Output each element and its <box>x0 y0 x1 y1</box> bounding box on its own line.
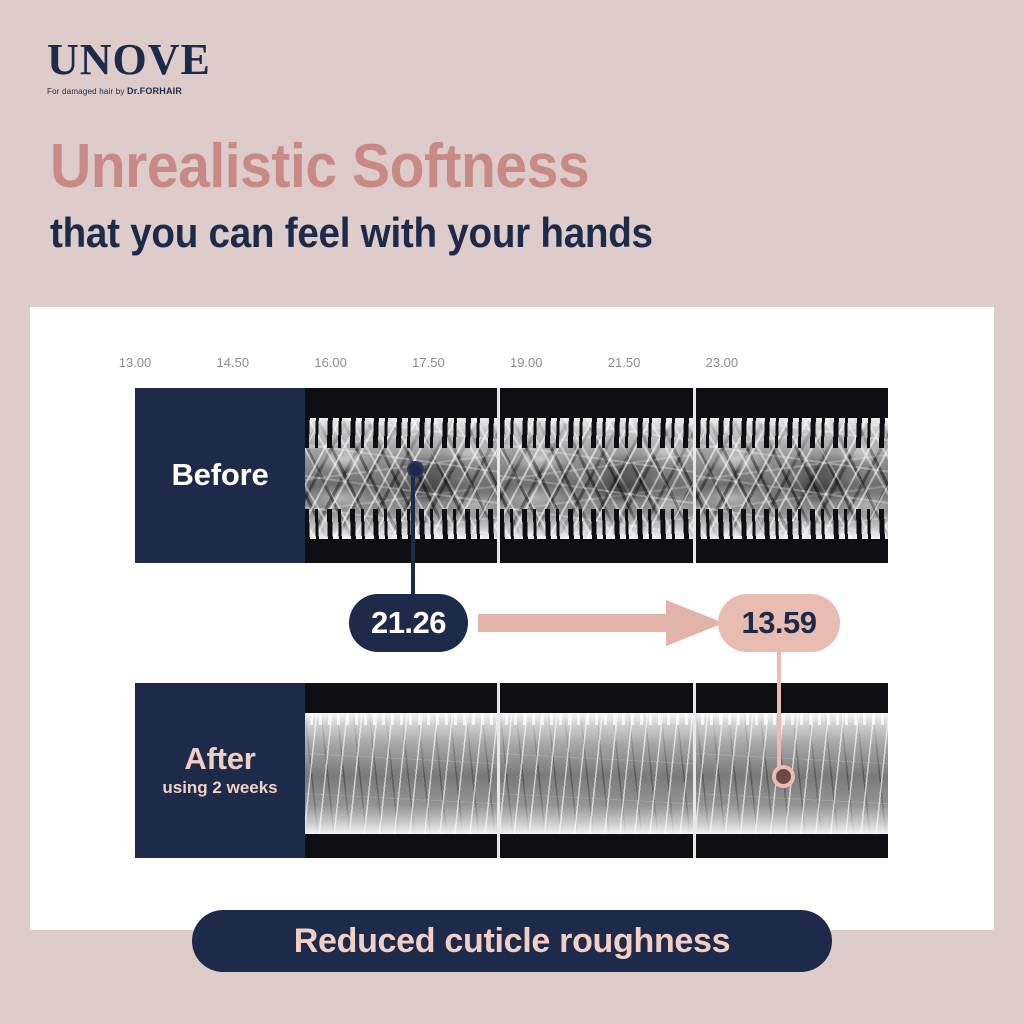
measurement-marker-before <box>407 461 424 478</box>
sem-panel-before-2 <box>497 388 692 563</box>
fibre-edge-bottom <box>305 509 497 544</box>
axis-tick-3: 17.50 <box>412 355 445 370</box>
sem-panel-after-2 <box>497 683 692 858</box>
hair-fibre-smooth <box>497 713 692 834</box>
brand-wordmark: UNOVE <box>47 38 347 82</box>
axis-tick-5: 21.50 <box>608 355 641 370</box>
fibre-edge-top <box>305 413 497 448</box>
brand-tagline-partner: Dr.FORHAIR <box>127 86 182 96</box>
row-label-after-subtitle: using 2 weeks <box>162 778 277 798</box>
sem-strip-after <box>305 683 888 858</box>
conclusion-banner: Reduced cuticle roughness <box>192 910 832 972</box>
sem-panel-before-3 <box>693 388 888 563</box>
row-label-before-title: Before <box>172 459 269 492</box>
hair-fibre-smooth <box>305 713 497 834</box>
axis-tick-4: 19.00 <box>510 355 543 370</box>
headline-secondary: that you can feel with your hands <box>50 212 896 254</box>
comparison-row-before: Before <box>135 388 888 563</box>
brand-tagline: For damaged hair by Dr.FORHAIR <box>47 86 347 96</box>
fibre-edge-top <box>500 413 692 448</box>
headline-block: Unrealistic Softness that you can feel w… <box>50 136 970 254</box>
value-badge-before: 21.26 <box>349 594 468 652</box>
row-label-after: After using 2 weeks <box>135 683 305 858</box>
connector-line-after <box>777 648 781 770</box>
row-label-after-title: After <box>184 743 255 776</box>
value-badge-after: 13.59 <box>718 594 840 652</box>
axis-tick-0: 13.00 <box>119 355 152 370</box>
axis-tick-labels: 13.00 14.50 16.00 17.50 19.00 21.50 23.0… <box>135 355 993 379</box>
brand-logo: UNOVE For damaged hair by Dr.FORHAIR <box>47 38 347 96</box>
row-label-before: Before <box>135 388 305 563</box>
fibre-edge-bottom <box>696 509 888 544</box>
brand-tagline-prefix: For damaged hair by <box>47 87 127 96</box>
axis-tick-6: 23.00 <box>706 355 739 370</box>
measurement-marker-after <box>772 765 795 788</box>
improvement-arrow-icon <box>478 598 728 648</box>
sem-panel-before-1 <box>305 388 497 563</box>
axis-tick-1: 14.50 <box>217 355 250 370</box>
axis-tick-2b: 16.00 <box>314 355 347 370</box>
sem-panel-after-1 <box>305 683 497 858</box>
fibre-edge-bottom <box>500 509 692 544</box>
fibre-edge-top <box>696 413 888 448</box>
connector-line-before <box>411 468 415 598</box>
headline-primary: Unrealistic Softness <box>50 136 896 198</box>
sem-strip-before <box>305 388 888 563</box>
